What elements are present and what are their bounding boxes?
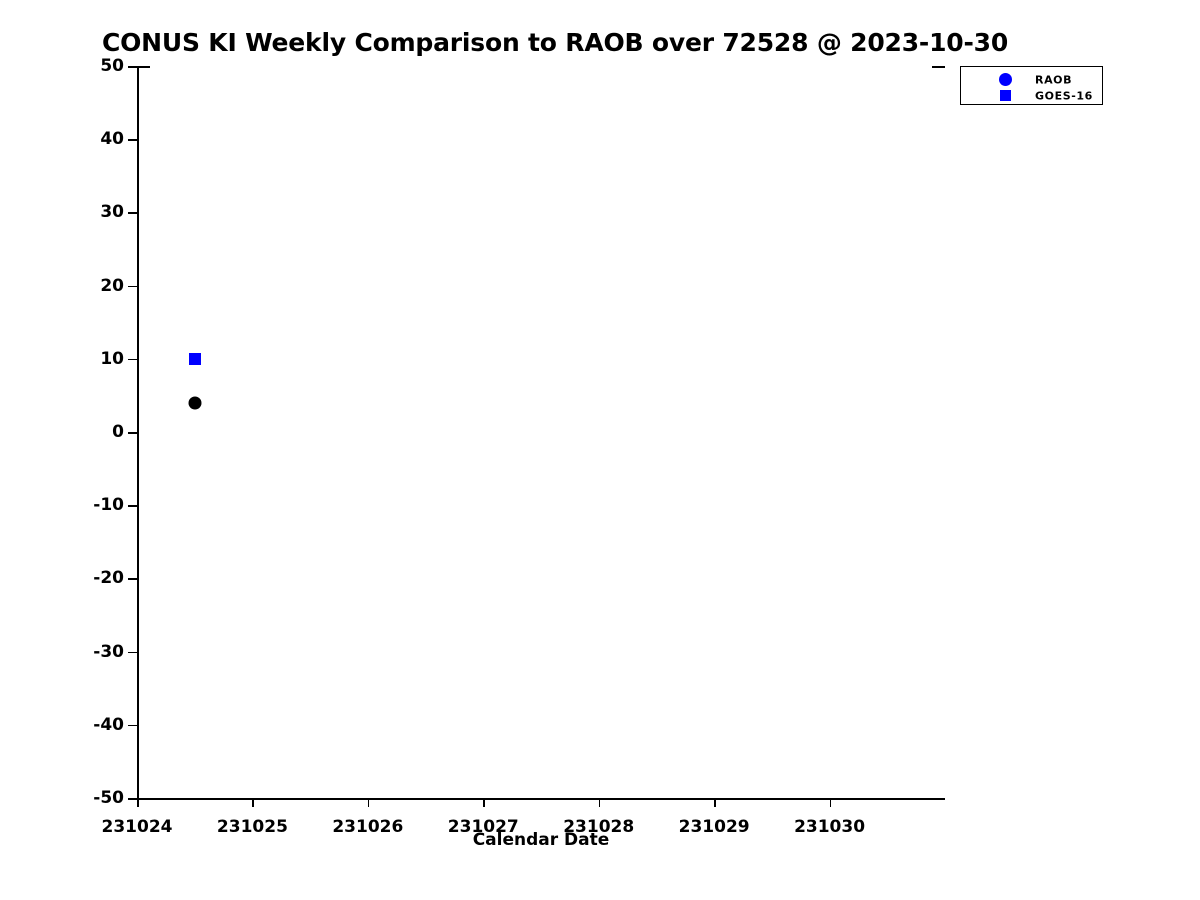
x-tick-mark [830, 798, 832, 807]
y-tick-mark [128, 505, 137, 507]
y-tick-mark [128, 139, 137, 141]
x-tick-mark [252, 798, 254, 807]
y-tick-label: 30 [100, 202, 124, 222]
x-axis-label: Calendar Date [137, 830, 945, 850]
x-tick-mark [714, 798, 716, 807]
top-right-corner-tick [932, 66, 945, 68]
y-tick-mark [128, 652, 137, 654]
legend-label: GOES-16 [1035, 90, 1093, 103]
y-tick-mark [128, 66, 137, 68]
y-tick-label: 0 [112, 422, 124, 442]
y-tick-label: -20 [93, 568, 124, 588]
legend-swatch [999, 73, 1012, 86]
y-tick-label: -40 [93, 715, 124, 735]
y-tick-mark [128, 578, 137, 580]
legend-swatch [1000, 90, 1011, 101]
y-tick-label: -50 [93, 788, 124, 808]
y-tick-label: 10 [100, 349, 124, 369]
x-tick-mark [483, 798, 485, 807]
y-tick-mark [128, 286, 137, 288]
x-tick-mark [137, 798, 139, 807]
y-axis-label: Measured KI (C) [0, 0, 22, 198]
y-tick-mark [128, 725, 137, 727]
legend-marker-circle-icon [999, 73, 1013, 87]
plot-area: 50403020100-10-20-30-40-50 2310242310252… [137, 66, 945, 798]
y-tick-label: -30 [93, 642, 124, 662]
legend-marker-square-icon [999, 89, 1013, 103]
data-point-raob [188, 396, 201, 409]
y-axis-spine [137, 66, 139, 798]
legend-box: RAOBGOES-16 [960, 66, 1103, 105]
y-tick-mark [128, 212, 137, 214]
y-tick-label: 20 [100, 276, 124, 296]
y-tick-mark [128, 359, 137, 361]
page-title: CONUS KI Weekly Comparison to RAOB over … [0, 28, 1110, 57]
x-tick-mark [599, 798, 601, 807]
y-tick-mark [128, 432, 137, 434]
legend-label: RAOB [1035, 74, 1072, 87]
data-point-goes-16 [189, 353, 201, 365]
y-tick-label: 40 [100, 129, 124, 149]
legend-item-goes-16[interactable]: GOES-16 [961, 87, 1102, 105]
y-tick-label: -10 [93, 495, 124, 515]
figure-canvas: CONUS KI Weekly Comparison to RAOB over … [0, 0, 1200, 900]
y-tick-label: 50 [100, 56, 124, 76]
x-tick-mark [368, 798, 370, 807]
x-axis-spine [137, 798, 945, 800]
top-left-corner-tick [137, 66, 150, 68]
y-tick-mark [128, 798, 137, 800]
